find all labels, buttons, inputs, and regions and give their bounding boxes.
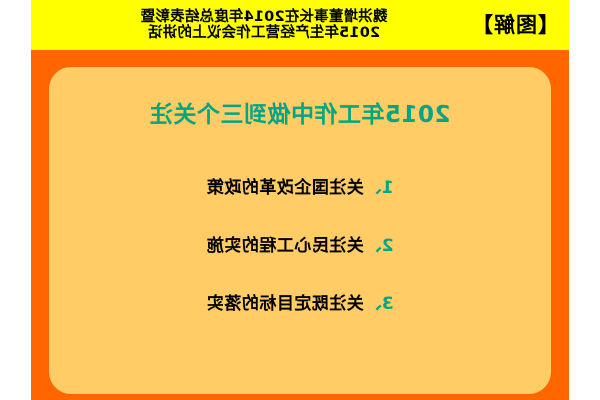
list-item-number: 2、 xyxy=(365,231,394,256)
content-panel: 2015年工作中做到三个关注 1、 关注国企改革的政策 2、 关注民心工程的实施… xyxy=(49,67,551,394)
key-points-list: 1、 关注国企改革的政策 2、 关注民心工程的实施 3、 关注既定目标的落实 xyxy=(79,129,521,374)
list-item-number: 3、 xyxy=(365,289,394,314)
list-item: 1、 关注国企改革的政策 xyxy=(79,173,521,198)
list-item-label: 关注国企改革的政策 xyxy=(206,173,364,198)
list-item-number: 1、 xyxy=(365,173,394,198)
panel-heading: 2015年工作中做到三个关注 xyxy=(79,95,521,129)
orange-frame: 2015年工作中做到三个关注 1、 关注国企改革的政策 2、 关注民心工程的实施… xyxy=(31,50,569,400)
list-item-label: 关注既定目标的落实 xyxy=(206,289,364,314)
title-line-2: 2015年生产经营工作会议上的讲话 xyxy=(148,25,380,41)
list-item: 2、 关注民心工程的实施 xyxy=(79,231,521,256)
list-item: 3、 关注既定目标的落实 xyxy=(79,289,521,314)
title-line-1: 魏洪增董事长在2014年度总结表彰暨 xyxy=(141,9,388,25)
title-text-block: 魏洪增董事长在2014年度总结表彰暨 2015年生产经营工作会议上的讲话 xyxy=(37,9,457,41)
slide-canvas: 【图解】 魏洪增董事长在2014年度总结表彰暨 2015年生产经营工作会议上的讲… xyxy=(0,0,600,400)
title-band: 【图解】 魏洪增董事长在2014年度总结表彰暨 2015年生产经营工作会议上的讲… xyxy=(31,0,569,50)
title-tag-label: 【图解】 xyxy=(457,15,559,36)
list-item-label: 关注民心工程的实施 xyxy=(206,231,364,256)
